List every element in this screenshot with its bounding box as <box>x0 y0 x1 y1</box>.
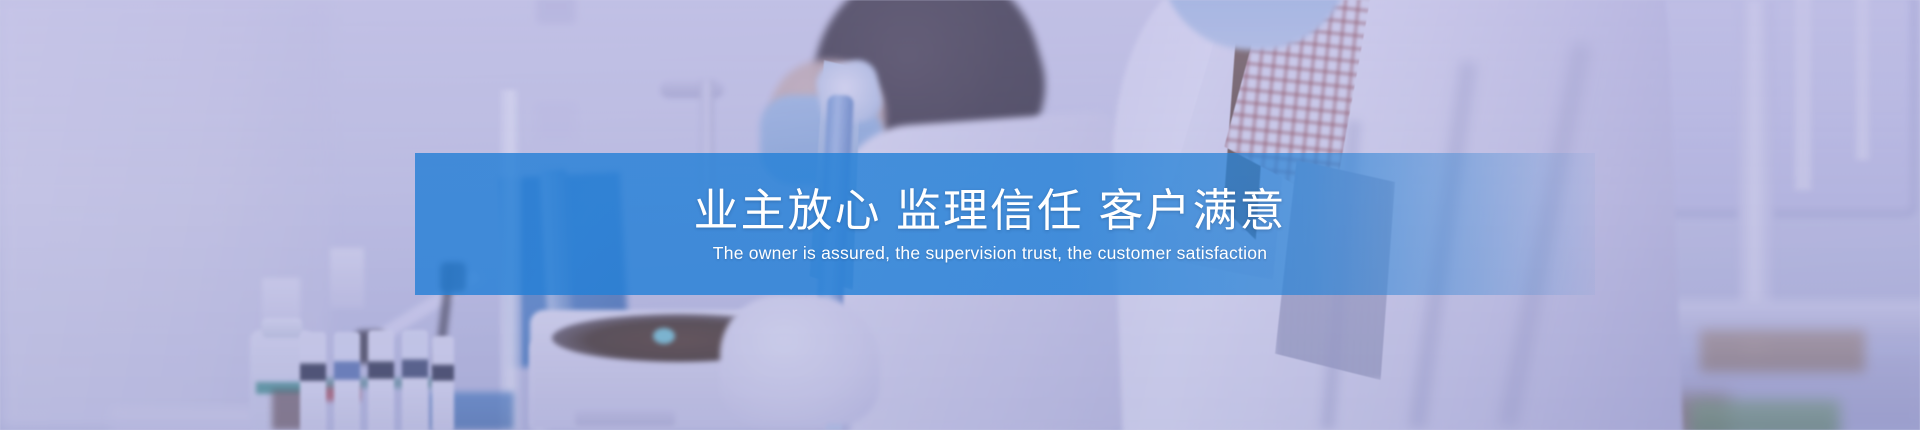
banner-headline: 业主放心 监理信任 客户满意 <box>693 184 1286 237</box>
hero-banner: 业主放心 监理信任 客户满意 The owner is assured, the… <box>0 0 1920 430</box>
slogan-text-block: 业主放心 监理信任 客户满意 The owner is assured, the… <box>415 153 1565 295</box>
banner-subtitle: The owner is assured, the supervision tr… <box>713 243 1267 264</box>
